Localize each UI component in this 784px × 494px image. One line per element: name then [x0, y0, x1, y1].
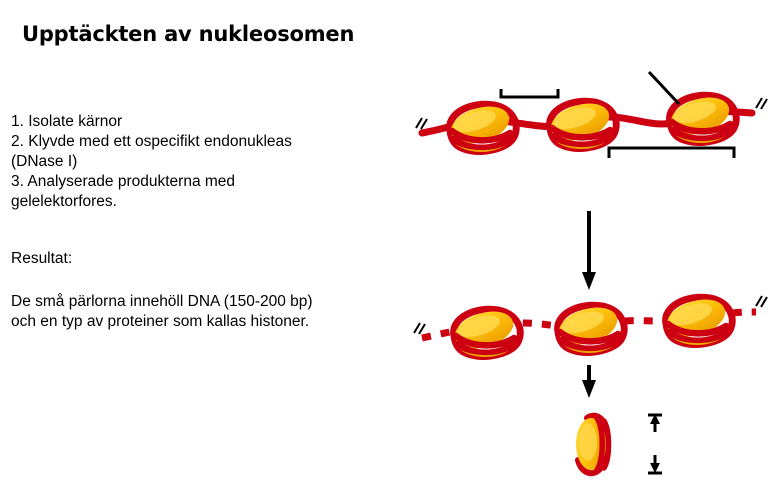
beads-on-a-string-row	[416, 72, 767, 158]
down-arrow-icon	[582, 365, 596, 398]
slide-canvas: Upptäckten av nukleosomen 1. Isolate kär…	[0, 0, 784, 494]
down-arrow-icon	[582, 211, 596, 290]
released-core-particle-row	[576, 414, 662, 473]
digested-chromatin-row	[414, 293, 767, 357]
dimension-arrow-icon	[648, 414, 662, 473]
strand-break-icon	[756, 98, 767, 109]
result-text: De små pärlorna innehöll DNA (150-200 bp…	[11, 292, 411, 332]
bracket-icon	[609, 148, 734, 158]
result-label: Resultat:	[11, 249, 72, 269]
nucleosome-bead-icon	[666, 91, 736, 143]
nucleosome-bead-icon	[446, 100, 516, 152]
strand-break-icon	[414, 323, 425, 334]
strand-break-icon	[756, 296, 767, 307]
nucleosome-bead-icon	[662, 293, 732, 345]
nucleosome-bead-icon	[546, 97, 616, 149]
nucleosome-bead-icon	[554, 301, 624, 353]
strand-break-icon	[416, 118, 427, 129]
page-title: Upptäckten av nukleosomen	[22, 22, 354, 46]
nucleosome-bead-icon	[450, 305, 520, 357]
bracket-icon	[501, 89, 558, 97]
nucleosome-diagram-svg	[400, 0, 784, 494]
nucleosome-diagram: linker DNA core histones of nucleosome “…	[400, 0, 784, 494]
leader-line-icon	[649, 72, 679, 104]
nucleosome-core-particle-icon	[576, 416, 609, 474]
method-steps-list: 1. Isolate kärnor 2. Klyvde med ett ospe…	[11, 112, 411, 212]
